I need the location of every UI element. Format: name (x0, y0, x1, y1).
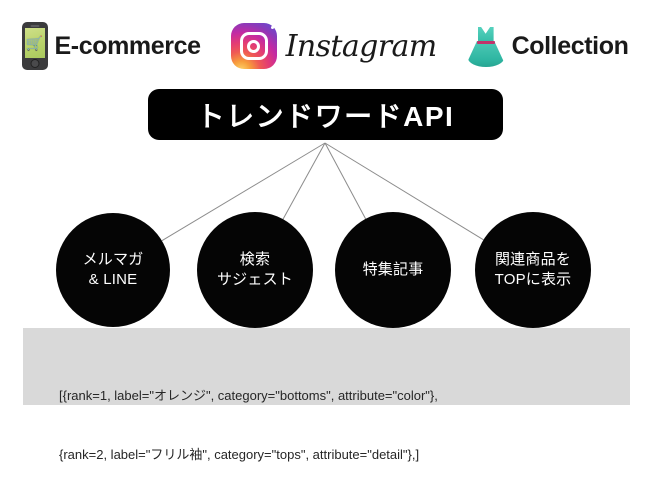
header-item-instagram: Instagram (231, 23, 437, 69)
header-row: 🛒 E-commerce Instagram Collec (0, 10, 650, 82)
phone-screen: 🛒 (25, 28, 45, 58)
connector-line-3 (325, 143, 366, 219)
header-item-ecommerce: 🛒 E-commerce (22, 22, 201, 70)
connector-line-2 (283, 143, 325, 219)
header-label-instagram: Instagram (286, 29, 437, 64)
node-circle-feature-article[interactable]: 特集記事 (335, 212, 451, 328)
dress-belt (477, 41, 495, 44)
instagram-logo-icon (231, 23, 277, 69)
header-label-collection: Collection (512, 32, 629, 61)
page-title: トレンドワードAPI (197, 95, 455, 135)
shopping-cart-icon: 🛒 (26, 36, 43, 50)
sample-output-line-2: {rank=2, label="フリル袖", category="tops", … (59, 445, 438, 465)
node-circle-search-suggest[interactable]: 検索 サジェスト (197, 212, 313, 328)
sample-output-panel: [{rank=1, label="オレンジ", category="bottom… (23, 328, 630, 405)
api-title-pill: トレンドワードAPI (148, 89, 503, 140)
instagram-lens-icon (247, 40, 260, 53)
node-label-feature-article: 特集記事 (363, 260, 424, 280)
header-label-ecommerce: E-commerce (55, 32, 201, 61)
phone-speaker (30, 25, 39, 27)
header-item-collection: Collection (467, 23, 629, 69)
sample-output-line-1: [{rank=1, label="オレンジ", category="bottom… (59, 386, 438, 406)
node-circle-mailmagazine-line[interactable]: メルマガ & LINE (56, 213, 170, 327)
phone-home-button (30, 59, 39, 68)
node-label-search-suggest: 検索 サジェスト (217, 250, 293, 290)
node-label-mailmagazine-line: メルマガ & LINE (83, 250, 144, 290)
dress-icon (467, 23, 505, 69)
node-label-related-products-top: 関連商品を TOPに表示 (495, 250, 572, 290)
instagram-flash-dot (271, 26, 275, 30)
sample-output-text: [{rank=1, label="オレンジ", category="bottom… (59, 346, 438, 504)
smartphone-cart-icon: 🛒 (22, 22, 48, 70)
instagram-camera-outline (240, 32, 268, 60)
node-circle-related-products-top[interactable]: 関連商品を TOPに表示 (475, 212, 591, 328)
dress-skirt (468, 41, 504, 67)
diagram-canvas: 🛒 E-commerce Instagram Collec (0, 0, 650, 429)
